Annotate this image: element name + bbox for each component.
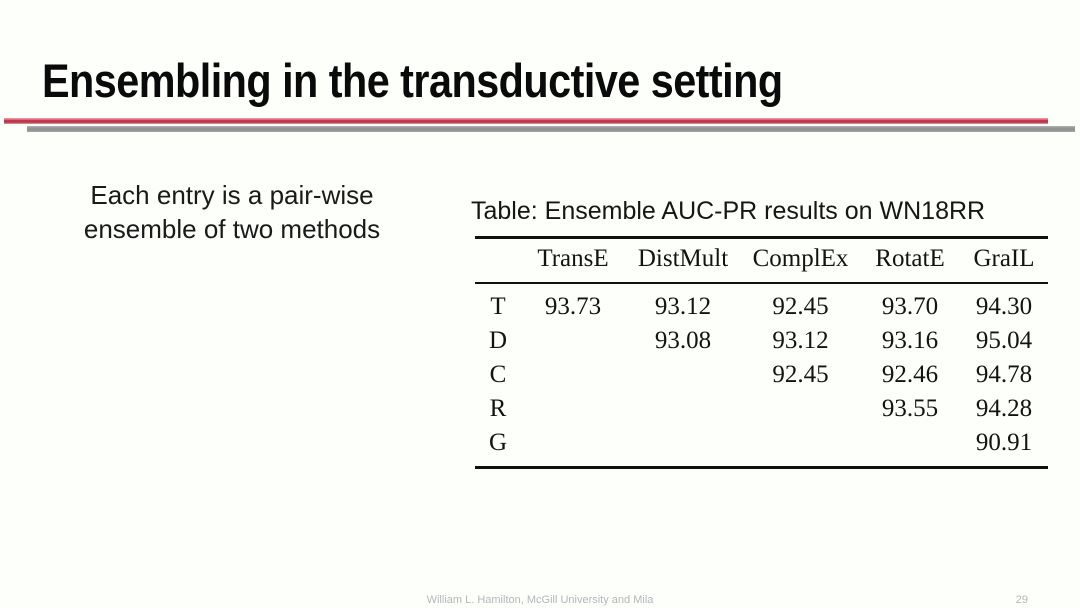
divider-gray-bar bbox=[27, 126, 1075, 132]
cell-g-complex bbox=[741, 426, 860, 468]
results-table-container: TransE DistMult ComplEx RotatE GraIL T 9… bbox=[475, 236, 1048, 469]
cell-t-distmult: 93.12 bbox=[625, 283, 741, 324]
cell-d-rotate: 93.16 bbox=[860, 324, 960, 358]
left-annotation-line-2: ensemble of two methods bbox=[52, 212, 412, 246]
table-row: C 92.45 92.46 94.78 bbox=[475, 358, 1048, 392]
table-caption: Table: Ensemble AUC-PR results on WN18RR bbox=[471, 196, 985, 226]
row-label-g: G bbox=[475, 426, 521, 468]
cell-t-complex: 92.45 bbox=[741, 283, 860, 324]
cell-r-grail: 94.28 bbox=[960, 392, 1048, 426]
row-label-t: T bbox=[475, 283, 521, 324]
cell-g-distmult bbox=[625, 426, 741, 468]
row-label-c: C bbox=[475, 358, 521, 392]
column-header-distmult: DistMult bbox=[625, 238, 741, 284]
cell-c-rotate: 92.46 bbox=[860, 358, 960, 392]
footer-author: William L. Hamilton, McGill University a… bbox=[0, 594, 1080, 606]
column-header-complex: ComplEx bbox=[741, 238, 860, 284]
cell-r-transe bbox=[521, 392, 625, 426]
cell-c-transe bbox=[521, 358, 625, 392]
cell-g-grail: 90.91 bbox=[960, 426, 1048, 468]
table-body: T 93.73 93.12 92.45 93.70 94.30 D 93.08 … bbox=[475, 283, 1048, 468]
table-header-row: TransE DistMult ComplEx RotatE GraIL bbox=[475, 238, 1048, 284]
row-label-r: R bbox=[475, 392, 521, 426]
slide-canvas: Ensembling in the transductive setting E… bbox=[0, 0, 1080, 608]
page-title: Ensembling in the transductive setting bbox=[42, 53, 783, 108]
footer-page-number: 29 bbox=[1016, 594, 1028, 606]
cell-r-distmult bbox=[625, 392, 741, 426]
cell-c-distmult bbox=[625, 358, 741, 392]
cell-g-transe bbox=[521, 426, 625, 468]
cell-r-complex bbox=[741, 392, 860, 426]
table-row: R 93.55 94.28 bbox=[475, 392, 1048, 426]
divider-red-bar bbox=[4, 118, 1048, 124]
row-label-d: D bbox=[475, 324, 521, 358]
table-row: T 93.73 93.12 92.45 93.70 94.30 bbox=[475, 283, 1048, 324]
cell-t-rotate: 93.70 bbox=[860, 283, 960, 324]
left-annotation-line-1: Each entry is a pair-wise bbox=[52, 178, 412, 212]
results-table: TransE DistMult ComplEx RotatE GraIL T 9… bbox=[475, 236, 1048, 469]
cell-d-grail: 95.04 bbox=[960, 324, 1048, 358]
cell-d-transe bbox=[521, 324, 625, 358]
column-header-transe: TransE bbox=[521, 238, 625, 284]
column-header-rowlabel bbox=[475, 238, 521, 284]
cell-d-complex: 93.12 bbox=[741, 324, 860, 358]
cell-d-distmult: 93.08 bbox=[625, 324, 741, 358]
column-header-rotate: RotatE bbox=[860, 238, 960, 284]
left-annotation-text: Each entry is a pair-wise ensemble of tw… bbox=[52, 178, 412, 246]
cell-r-rotate: 93.55 bbox=[860, 392, 960, 426]
cell-t-grail: 94.30 bbox=[960, 283, 1048, 324]
cell-t-transe: 93.73 bbox=[521, 283, 625, 324]
cell-c-complex: 92.45 bbox=[741, 358, 860, 392]
table-row: G 90.91 bbox=[475, 426, 1048, 468]
column-header-grail: GraIL bbox=[960, 238, 1048, 284]
cell-c-grail: 94.78 bbox=[960, 358, 1048, 392]
table-row: D 93.08 93.12 93.16 95.04 bbox=[475, 324, 1048, 358]
cell-g-rotate bbox=[860, 426, 960, 468]
table-header: TransE DistMult ComplEx RotatE GraIL bbox=[475, 238, 1048, 284]
